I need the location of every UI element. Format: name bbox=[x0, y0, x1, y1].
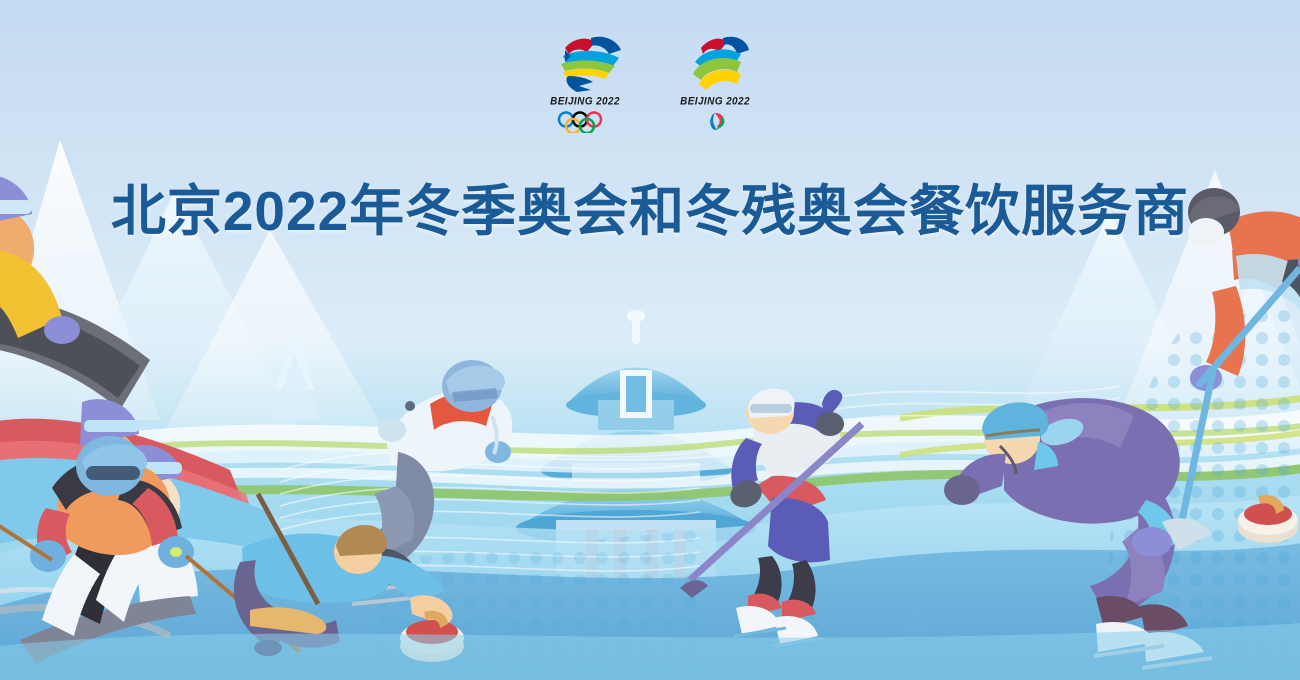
olympic-wordmark: BEIJING 2022 bbox=[550, 95, 620, 107]
olympic-banner: BEIJING 2022 BEIJING 2022 bbox=[0, 0, 1300, 680]
paralympic-wordmark: BEIJING 2022 bbox=[680, 95, 750, 107]
page-title: 北京2022年冬季奥会和冬残奥会餐饮服务商 bbox=[0, 180, 1300, 242]
beijing-2022-paralympic-emblem: BEIJING 2022 bbox=[669, 32, 761, 131]
olympic-rings-icon bbox=[555, 111, 615, 133]
winter-dream-mark-icon bbox=[539, 32, 631, 94]
beijing-2022-olympic-emblem: BEIJING 2022 bbox=[539, 32, 631, 133]
emblem-row: BEIJING 2022 BEIJING 2022 bbox=[0, 32, 1300, 133]
flying-high-mark-icon bbox=[669, 32, 761, 94]
agitos-icon bbox=[695, 111, 735, 131]
